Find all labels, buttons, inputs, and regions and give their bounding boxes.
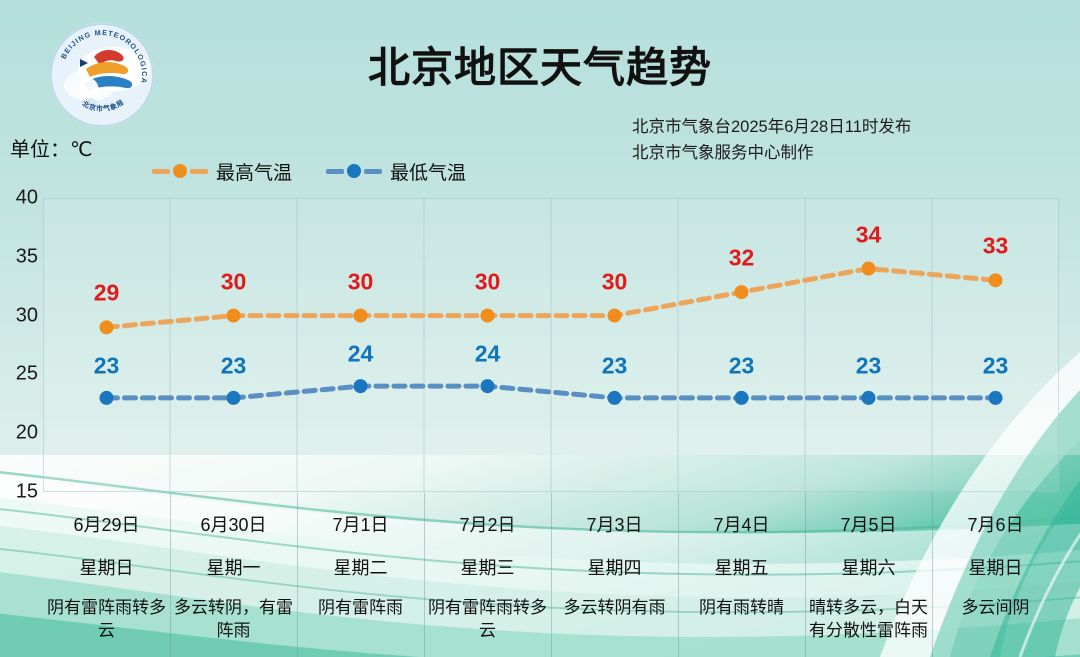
high-temp-marker (735, 285, 749, 299)
forecast-date: 6月30日 (170, 511, 297, 537)
column-divider (551, 493, 552, 657)
chart-legend: 最高气温 最低气温 (152, 158, 466, 184)
y-axis-tick-25: 25 (16, 363, 38, 386)
high-temp-marker (608, 309, 622, 323)
legend-marker-low (347, 164, 361, 178)
high-temp-label: 33 (983, 233, 1009, 260)
forecast-date: 7月4日 (678, 511, 805, 537)
low-temp-marker (354, 379, 368, 393)
forecast-condition: 多云间阴 (932, 597, 1059, 620)
publisher-line-2: 北京市气象服务中心制作 (632, 141, 1052, 167)
high-temp-marker (862, 262, 876, 276)
high-temp-marker (481, 309, 495, 323)
column-divider (297, 493, 298, 657)
publisher-line-1: 北京市气象台2025年6月28日11时发布 (632, 115, 1052, 141)
forecast-date: 7月3日 (551, 511, 678, 537)
publisher-note: 北京市气象台2025年6月28日11时发布 北京市气象服务中心制作 (632, 115, 1052, 166)
high-temp-marker (100, 320, 114, 334)
forecast-column-1: 6月29日星期日阴有雷阵雨转多云 (43, 493, 170, 657)
forecast-column-2: 6月30日星期一多云转阴，有雷阵雨 (170, 493, 297, 657)
low-temp-label: 24 (348, 341, 374, 368)
low-temp-marker (989, 391, 1003, 405)
y-axis-tick-35: 35 (16, 245, 38, 268)
low-temp-label: 23 (729, 352, 755, 379)
legend-item-high: 最高气温 (152, 158, 292, 185)
column-divider (932, 493, 933, 657)
column-divider (170, 493, 171, 657)
forecast-condition: 晴转多云，白天有分散性雷阵雨 (805, 597, 932, 643)
forecast-date: 7月5日 (805, 511, 932, 537)
high-temp-label: 30 (348, 268, 374, 295)
column-divider (678, 493, 679, 657)
low-temp-label: 24 (475, 341, 501, 368)
legend-line-high (152, 169, 170, 174)
legend-line-low-2 (364, 169, 382, 174)
low-temp-label: 23 (983, 352, 1009, 379)
forecast-column-8: 7月6日星期日多云间阴 (932, 493, 1059, 657)
header: BEIJING METEOROLOGICAL SERVICE 北京市气象局 北京… (0, 0, 1080, 130)
high-temp-label: 30 (221, 268, 247, 295)
forecast-date: 6月29日 (43, 511, 170, 537)
high-temp-label: 34 (856, 221, 882, 248)
high-temp-label: 32 (729, 245, 755, 272)
forecast-condition: 阴有雷阵雨转多云 (43, 597, 170, 643)
forecast-column-3: 7月1日星期二阴有雷阵雨 (297, 493, 424, 657)
legend-marker-high (173, 164, 187, 178)
high-temp-label: 29 (94, 280, 120, 307)
high-temp-marker (989, 273, 1003, 287)
column-divider (805, 493, 806, 657)
forecast-column-5: 7月3日星期四多云转阴有雨 (551, 493, 678, 657)
forecast-column-4: 7月2日星期三阴有雷阵雨转多云 (424, 493, 551, 657)
forecast-weekday: 星期二 (297, 554, 424, 580)
forecast-weekday: 星期三 (424, 554, 551, 580)
high-temp-label: 30 (475, 268, 501, 295)
low-temp-marker (735, 391, 749, 405)
forecast-weekday: 星期五 (678, 554, 805, 580)
unit-label: 单位：℃ (10, 133, 92, 162)
page-title: 北京地区天气趋势 (0, 34, 1080, 95)
y-axis-tick-40: 40 (16, 187, 38, 210)
forecast-weekday: 星期日 (932, 554, 1059, 580)
low-temp-marker (481, 379, 495, 393)
y-axis-tick-30: 30 (16, 304, 38, 327)
high-temp-label: 30 (602, 268, 628, 295)
forecast-condition: 阴有雨转晴 (678, 597, 805, 620)
temperature-line-chart (43, 198, 1059, 492)
legend-label-low: 最低气温 (390, 158, 466, 185)
high-temp-marker (354, 309, 368, 323)
low-temp-label: 23 (856, 352, 882, 379)
forecast-date: 7月6日 (932, 511, 1059, 537)
forecast-weekday: 星期一 (170, 554, 297, 580)
forecast-table: 6月29日星期日阴有雷阵雨转多云6月30日星期一多云转阴，有雷阵雨7月1日星期二… (43, 493, 1059, 657)
legend-line-high-2 (190, 169, 208, 174)
column-divider (424, 493, 425, 657)
low-temp-label: 23 (221, 352, 247, 379)
forecast-condition: 阴有雷阵雨 (297, 597, 424, 620)
forecast-condition: 多云转阴有雨 (551, 597, 678, 620)
high-temp-marker (227, 309, 241, 323)
forecast-date: 7月2日 (424, 511, 551, 537)
low-temp-marker (862, 391, 876, 405)
y-axis-labels: 403530252015 (0, 185, 38, 505)
forecast-column-6: 7月4日星期五阴有雨转晴 (678, 493, 805, 657)
forecast-weekday: 星期六 (805, 554, 932, 580)
low-temp-label: 23 (602, 352, 628, 379)
forecast-date: 7月1日 (297, 511, 424, 537)
forecast-column-7: 7月5日星期六晴转多云，白天有分散性雷阵雨 (805, 493, 932, 657)
forecast-condition: 多云转阴，有雷阵雨 (170, 597, 297, 643)
low-temp-marker (608, 391, 622, 405)
forecast-condition: 阴有雷阵雨转多云 (424, 597, 551, 643)
low-temp-marker (100, 391, 114, 405)
low-temp-marker (227, 391, 241, 405)
forecast-weekday: 星期四 (551, 554, 678, 580)
forecast-weekday: 星期日 (43, 554, 170, 580)
legend-line-low (326, 169, 344, 174)
legend-item-low: 最低气温 (326, 158, 466, 185)
y-axis-tick-15: 15 (16, 481, 38, 504)
legend-label-high: 最高气温 (216, 158, 292, 185)
y-axis-tick-20: 20 (16, 422, 38, 445)
low-temp-label: 23 (94, 352, 120, 379)
